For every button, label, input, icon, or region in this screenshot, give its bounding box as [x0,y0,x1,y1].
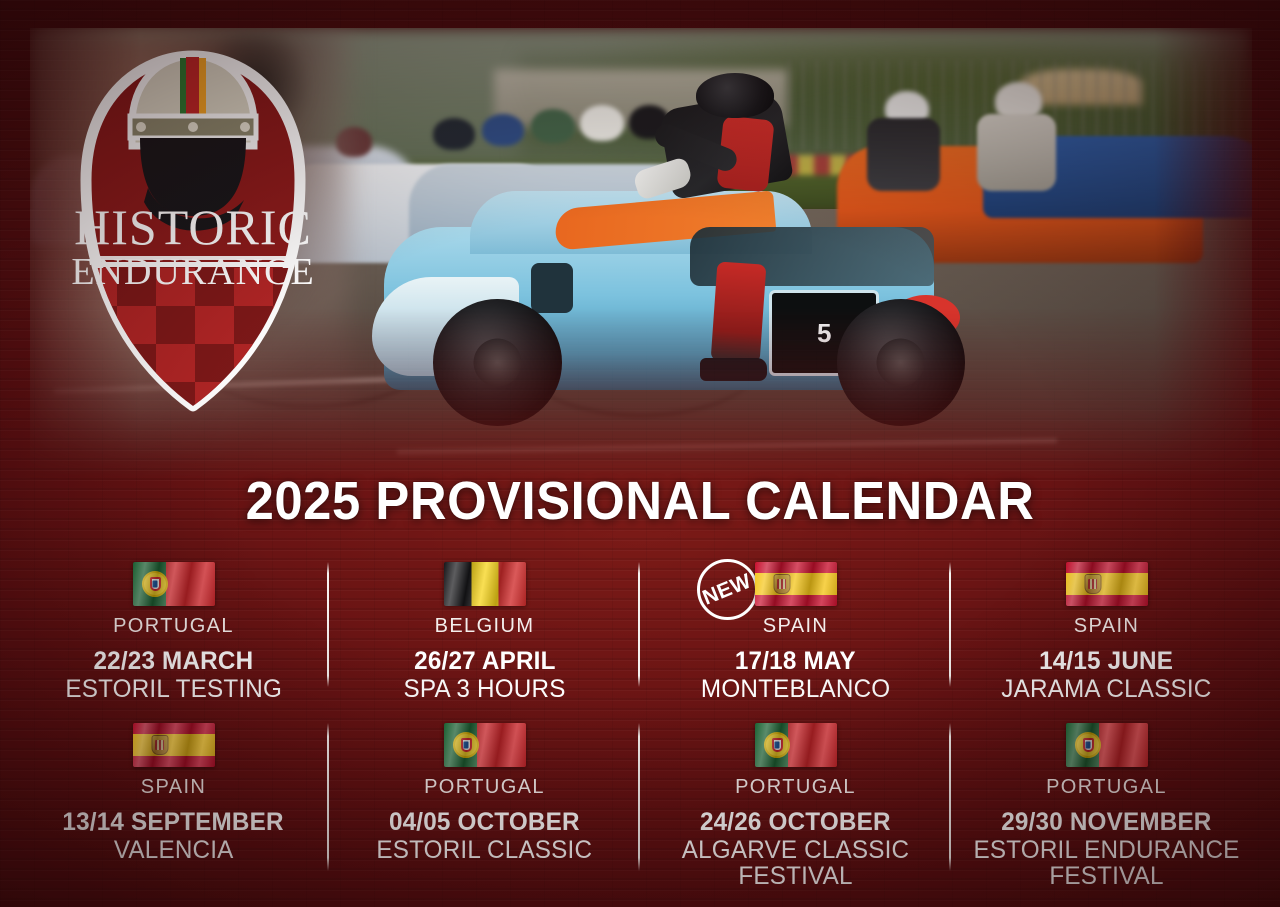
event-date: 24/26 OCTOBER [700,808,891,836]
event-card[interactable]: BELGIUM 26/27 APRIL SPA 3 HOURS [329,548,640,709]
event-card[interactable]: PORTUGAL 29/30 NOVEMBER ESTORIL ENDURANC… [951,709,1262,894]
event-venue: ESTORIL TESTING [65,676,282,702]
event-venue: ESTORIL CLASSIC [377,837,593,863]
flag-row: NEW [650,560,941,608]
gt40-rear-wheel [837,299,965,426]
logo-svg: HISTORIC ENDURANCE [68,38,318,420]
driver-leg [711,261,767,364]
event-date: 04/05 OCTOBER [389,808,580,836]
event-date: 22/23 MARCH [94,647,254,675]
logo-line-1: HISTORIC [74,199,312,255]
event-card[interactable]: PORTUGAL 04/05 OCTOBER ESTORIL CLASSIC [329,709,640,894]
portugal-flag [1066,723,1148,767]
event-venue: MONTEBLANCO [701,676,890,702]
flag-row [339,721,630,769]
driver-helmet [696,73,774,118]
event-date: 26/27 APRIL [414,647,555,675]
spain-coat-of-arms [773,574,790,594]
flag-row [650,721,941,769]
new-badge: NEW [697,559,758,620]
flag-wave-shading [1066,562,1148,606]
event-venue: VALENCIA [114,837,234,863]
event-date: 13/14 SEPTEMBER [63,808,284,836]
spain-coat-of-arms [1084,574,1101,594]
portugal-armillary [764,732,790,758]
logo-line-2: ENDURANCE [71,251,314,293]
event-country: BELGIUM [435,615,535,637]
photo-crew-helmet [531,109,575,143]
portugal-flag [755,723,837,767]
event-card[interactable]: PORTUGAL 24/26 OCTOBER ALGARVE CLASSIC F… [640,709,951,894]
photo-crew-helmet [482,114,524,146]
event-venue: JARAMA CLASSIC [1001,676,1211,702]
event-country: SPAIN [763,615,829,637]
historic-endurance-logo: HISTORIC ENDURANCE [68,38,318,420]
event-country: PORTUGAL [735,776,856,798]
photo-crew-figure [867,118,940,190]
event-date: 29/30 NOVEMBER [1001,808,1211,836]
event-country: SPAIN [1074,615,1140,637]
event-venue: ESTORIL ENDURANCE FESTIVAL [965,837,1247,890]
gt40-door-scoop [531,263,573,313]
portugal-armillary [453,732,479,758]
event-date: 14/15 JUNE [1039,647,1173,675]
flag-row [961,560,1252,608]
event-country: PORTUGAL [424,776,545,798]
calendar-grid: PORTUGAL 22/23 MARCH ESTORIL TESTING BEL… [18,548,1262,893]
photo-crew-figure [977,114,1056,191]
page-title: 2025 PROVISIONAL CALENDAR [38,470,1241,532]
event-date: 17/18 MAY [735,647,856,675]
photo-crew-helmet [580,105,624,141]
event-country: PORTUGAL [1046,776,1167,798]
spain-flag [1066,562,1148,606]
event-card[interactable]: NEW SPAIN 17/18 MAY MONTEBLANCO [640,548,951,709]
event-card[interactable]: PORTUGAL 22/23 MARCH ESTORIL TESTING [18,548,329,709]
portugal-shield [1083,738,1094,752]
gt40-race-number: 5 [817,318,831,349]
event-card[interactable]: SPAIN 13/14 SEPTEMBER VALENCIA [18,709,329,894]
portugal-flag [444,723,526,767]
gt40-front-wheel [433,299,561,426]
portugal-flag [133,562,215,606]
flag-wave-shading [755,562,837,606]
flag-wave-shading [133,723,215,767]
event-card[interactable]: SPAIN 14/15 JUNE JARAMA CLASSIC [951,548,1262,709]
portugal-shield [461,738,472,752]
new-badge-label: NEW [699,569,755,610]
driver-shoe [700,358,767,381]
portugal-shield [150,577,161,591]
flag-row [961,721,1252,769]
photo-crew-helmet [433,118,475,150]
event-venue: ALGARVE CLASSIC FESTIVAL [654,837,936,890]
event-venue: SPA 3 HOURS [403,676,565,702]
event-country: SPAIN [141,776,207,798]
event-country: PORTUGAL [113,615,234,637]
flag-row [28,560,319,608]
spain-flag [755,562,837,606]
portugal-armillary [1075,732,1101,758]
flag-wave-shading [444,562,526,606]
belgium-flag [444,562,526,606]
portugal-shield [772,738,783,752]
spain-flag [133,723,215,767]
portugal-armillary [142,571,168,597]
flag-row [339,560,630,608]
spain-coat-of-arms [151,735,168,755]
calendar-poster: 5 Gulf [0,0,1280,907]
flag-row [28,721,319,769]
